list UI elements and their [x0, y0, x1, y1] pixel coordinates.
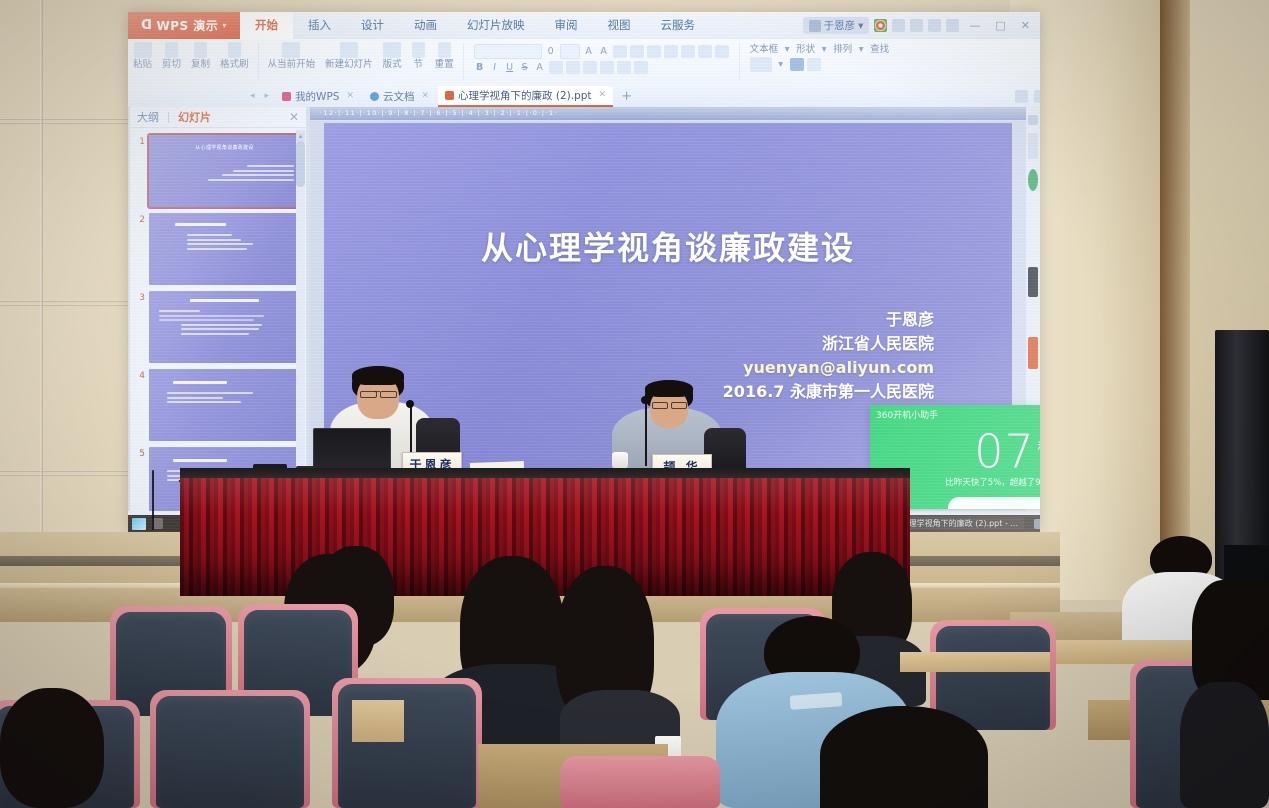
doc-tab-cloud-label: 云文档: [383, 89, 415, 104]
slide-preview-title: 从心理学视角谈廉政建设: [149, 135, 300, 151]
glasses-bridge: [375, 391, 380, 392]
slide-number: 4: [133, 369, 145, 441]
wps-ribbon: 粘贴 剪切 复制 格式刷 从当前开始 新建幻灯片: [128, 39, 1040, 88]
audience-head-front-center: [820, 706, 988, 808]
italic-icon[interactable]: I: [489, 62, 501, 73]
find-label[interactable]: 查找: [870, 44, 889, 55]
desk-c3: [352, 700, 404, 742]
textbox-caret[interactable]: ▾: [781, 44, 793, 55]
popup-count-value: 07: [974, 424, 1035, 478]
command-search-area[interactable]: 🔍 点此查找命令: [1015, 89, 1040, 104]
panel-tab-outline[interactable]: 大纲: [134, 109, 162, 125]
right-ribbon-group: 文本框 ▾ 形状 ▾ 排列 ▾ 查找 ▾: [744, 41, 896, 72]
slide-preview[interactable]: [149, 291, 300, 363]
popup-action-button[interactable]: [948, 497, 1041, 509]
help-icon[interactable]: [1015, 90, 1028, 103]
columns-icon[interactable]: [715, 45, 729, 58]
cloud-icon: [370, 92, 379, 101]
copy-icon: [194, 42, 207, 58]
shape-caret[interactable]: ▾: [818, 44, 830, 55]
shape-fill-icon[interactable]: [790, 58, 804, 71]
close-button[interactable]: ✕: [1016, 19, 1035, 32]
align-right-icon[interactable]: [647, 45, 661, 58]
underline-icon[interactable]: U: [504, 62, 516, 73]
grow-font-icon[interactable]: A: [583, 46, 595, 57]
shrink-font-icon[interactable]: A: [598, 46, 610, 57]
panel-close-icon[interactable]: ✕: [289, 110, 302, 124]
glasses-right-person-right-lens: [671, 402, 687, 409]
play-from-current-label: 从当前开始: [268, 59, 316, 70]
shape-label[interactable]: 形状: [796, 44, 815, 55]
quick-styles-caret[interactable]: ▾: [775, 59, 787, 70]
upload-icon[interactable]: [946, 19, 959, 32]
popup-count-unit: 秒: [1038, 440, 1040, 454]
bold-icon[interactable]: B: [474, 62, 486, 73]
new-slide-icon: [340, 42, 358, 58]
slide-preview[interactable]: [149, 213, 300, 285]
slide-date-venue: 2016.7 永康市第一人民医院: [723, 380, 934, 404]
slide-preview[interactable]: 从心理学视角谈廉政建设: [149, 135, 300, 207]
speaker-left-hair-top: [352, 366, 404, 385]
slide-thumbnail-list[interactable]: 1 从心理学视角谈廉政建设 2: [130, 128, 306, 515]
cloud-sync-icon[interactable]: [928, 19, 941, 32]
ribbon-button-cut[interactable]: 剪切: [157, 41, 186, 70]
ribbon-button-copy[interactable]: 复制: [186, 41, 215, 70]
font-size-select[interactable]: [560, 44, 580, 59]
ribbon-tab-review[interactable]: 审阅: [540, 12, 593, 39]
slide-affiliation: 浙江省人民医院: [723, 332, 934, 356]
seat-trim-front: [560, 756, 720, 808]
ribbon-tab-view[interactable]: 视图: [593, 12, 646, 39]
glasses-right-lens: [380, 391, 397, 398]
align-center-icon[interactable]: [630, 45, 644, 58]
window-icon[interactable]: [910, 19, 923, 32]
minimize-button[interactable]: —: [964, 19, 985, 32]
slide-email: yuenyan@aliyun.com: [723, 356, 934, 380]
arrange-label[interactable]: 排列: [833, 44, 852, 55]
cut-label: 剪切: [162, 59, 181, 70]
tab-next-icon[interactable]: ▸: [261, 91, 274, 101]
slide-author: 于恩彦: [723, 308, 934, 332]
panel-tab-slides[interactable]: 幻灯片: [175, 109, 214, 125]
slide-number: 5: [133, 447, 145, 515]
ribbon-button-section[interactable]: 节: [407, 41, 430, 70]
slide-number: 2: [133, 213, 145, 285]
quick-styles-icon[interactable]: [750, 57, 772, 72]
ribbon-tab-cloud[interactable]: 云服务: [646, 12, 711, 39]
text-effects-icon[interactable]: [549, 61, 563, 74]
line-spacing-icon[interactable]: [698, 45, 712, 58]
account-chip[interactable]: 于恩彦 ▾: [803, 17, 870, 34]
ribbon-button-paste[interactable]: 粘贴: [128, 41, 157, 70]
seat-c2: [156, 696, 304, 808]
ribbon-tab-design[interactable]: 设计: [346, 12, 399, 39]
tab-prev-icon[interactable]: ◂: [246, 91, 259, 101]
microphone-head-right: [641, 396, 649, 404]
projection-screen: ᗡ WPS 演示 ▾ 开始 插入 设计 动画 幻灯片放映 审阅 视图 云服务 于…: [128, 12, 1040, 532]
align-vertical-icon[interactable]: [617, 61, 631, 74]
font-color-icon[interactable]: A: [534, 62, 546, 73]
doc-tab-presentation[interactable]: 心理学视角下的廉政 (2).ppt ✕: [438, 86, 613, 107]
highlight-icon[interactable]: [566, 61, 580, 74]
ruler-ticks: ·12·|·11·|·10·|·9·|·8·|·7·|·6·|·5·|·4·|·…: [310, 107, 1026, 120]
ppt-icon: [445, 91, 454, 100]
ribbon-tab-start[interactable]: 开始: [240, 12, 293, 39]
account-caret: ▾: [858, 20, 863, 32]
align-left-icon[interactable]: [613, 45, 627, 58]
settings-icon[interactable]: [1034, 90, 1040, 103]
slide-panel: 大纲 幻灯片 ✕ 1 从心理学视角谈廉政建设: [130, 107, 306, 511]
desk-a4: [900, 652, 1050, 672]
new-tab-button[interactable]: +: [615, 89, 638, 104]
format-painter-icon: [228, 42, 241, 58]
panel-scroll-up-icon[interactable]: ▴: [296, 131, 305, 141]
layout-label: 版式: [383, 59, 402, 70]
copy-label: 复制: [191, 59, 210, 70]
doc-tab-cloud[interactable]: 云文档 ✕: [363, 87, 436, 106]
strikethrough-icon[interactable]: S: [519, 62, 531, 73]
audience-shirt-dark-right: [1180, 682, 1269, 808]
new-slide-label: 新建幻灯片: [325, 59, 373, 70]
panel-tab-strip: 大纲 幻灯片 ✕: [130, 107, 306, 128]
speaker-right-hair-top: [645, 380, 693, 397]
cable-vertical: [152, 470, 154, 530]
ribbon-tab-slideshow[interactable]: 幻灯片放映: [452, 12, 540, 39]
slide-thumbnail-1[interactable]: 1 从心理学视角谈廉政建设: [130, 132, 306, 210]
wps-logo-text: WPS 演示: [156, 17, 218, 34]
paste-label: 粘贴: [133, 59, 152, 70]
wps-logo-caret: ▾: [222, 21, 227, 30]
section-label: 节: [413, 59, 423, 70]
slide-number: 1: [133, 135, 145, 207]
text-direction-icon[interactable]: [600, 61, 614, 74]
ribbon-button-layout[interactable]: 版式: [378, 41, 407, 70]
title-bar-right: 于恩彦 ▾ — □ ✕: [803, 17, 1040, 34]
slide-number: 3: [133, 291, 145, 363]
ribbon-button-format-painter[interactable]: 格式刷: [215, 41, 254, 70]
doc-tab-close-icon[interactable]: ✕: [599, 90, 607, 100]
section-icon: [412, 42, 425, 58]
horizontal-ruler[interactable]: ·12·|·11·|·10·|·9·|·8·|·7·|·6·|·5·|·4·|·…: [310, 107, 1026, 120]
taskbar-item-label: 心理学视角下的廉政 (2).ppt - ...: [901, 518, 1018, 529]
dark-tool-icon[interactable]: [1028, 267, 1038, 297]
ribbon-button-new-slide[interactable]: 新建幻灯片: [320, 41, 378, 70]
doc-tab-close-icon[interactable]: ✕: [346, 91, 354, 101]
layout-icon: [383, 42, 401, 58]
user-avatar-icon: [809, 20, 821, 32]
slide-thumbnail-3[interactable]: 3: [130, 288, 306, 366]
maximize-button[interactable]: □: [990, 19, 1010, 32]
wps-icon: [282, 92, 291, 101]
microphone-head-left: [406, 400, 414, 408]
popup-app-name: 360开机小助手: [876, 408, 938, 421]
account-name: 于恩彦: [824, 18, 856, 33]
doc-tab-my-wps-label: 我的WPS: [295, 89, 339, 104]
popup-header: 360开机小助手 ☰ —: [870, 405, 1040, 423]
bullets-icon[interactable]: [664, 45, 678, 58]
slide-title-text[interactable]: 从心理学视角谈廉政建设: [324, 223, 1012, 269]
wps-logo-mark: ᗡ: [141, 18, 152, 33]
textbox-label[interactable]: 文本框: [750, 44, 779, 55]
paste-icon: [134, 42, 152, 58]
network-icon[interactable]: [1034, 519, 1040, 529]
doc-tab-my-wps[interactable]: 我的WPS ✕: [275, 87, 361, 106]
clear-format-icon[interactable]: [583, 61, 597, 74]
arrange-caret[interactable]: ▾: [855, 44, 867, 55]
smartart-icon[interactable]: [634, 61, 648, 74]
wall-dark-edge: [1160, 0, 1190, 600]
ribbon-button-play-from-current[interactable]: 从当前开始: [263, 41, 321, 70]
globe-icon[interactable]: [892, 19, 905, 32]
document-tab-strip: ◂ ▸ 我的WPS ✕ 云文档 ✕ 心理学视角下的廉政 (2).ppt ✕ +: [128, 85, 1040, 107]
font-size-value[interactable]: 0: [545, 46, 557, 57]
lecture-hall-scene: ᗡ WPS 演示 ▾ 开始 插入 设计 动画 幻灯片放映 审阅 视图 云服务 于…: [0, 0, 1269, 808]
glasses-left-lens: [360, 391, 377, 398]
doc-tab-close-icon[interactable]: ✕: [422, 91, 430, 101]
doc-tab-presentation-label: 心理学视角下的廉政 (2).ppt: [458, 88, 592, 103]
ribbon-tab-animation[interactable]: 动画: [399, 12, 452, 39]
scroll-up-icon[interactable]: [1028, 115, 1038, 125]
font-controls-group: 0 A A B I U S A: [468, 41, 735, 74]
orange-tool-icon[interactable]: [1028, 337, 1038, 369]
format-painter-label: 格式刷: [220, 59, 249, 70]
numbering-icon[interactable]: [681, 45, 695, 58]
reset-icon: [438, 42, 451, 58]
slide-subtitle-block[interactable]: 于恩彦 浙江省人民医院 yuenyan@aliyun.com 2016.7 永康…: [723, 308, 934, 404]
slide-thumbnail-2[interactable]: 2: [130, 210, 306, 288]
play-from-current-icon: [282, 42, 300, 58]
ribbon-button-reset[interactable]: 重置: [430, 41, 459, 70]
slide-thumbnail-4[interactable]: 4: [130, 366, 306, 444]
glasses-right-person-left-lens: [652, 402, 668, 409]
microphone-stand-right: [645, 400, 647, 466]
windows-start-icon[interactable]: [132, 518, 146, 530]
reset-label: 重置: [435, 59, 454, 70]
canvas-scrollbar-thumb[interactable]: [1028, 133, 1038, 159]
ribbon-tab-strip: 开始 插入 设计 动画 幻灯片放映 审阅 视图 云服务: [240, 12, 710, 39]
shape-outline-icon[interactable]: [807, 58, 821, 71]
smart-assistant-icon[interactable]: [1028, 169, 1038, 191]
font-family-select[interactable]: [474, 44, 542, 59]
slide-preview[interactable]: [149, 369, 300, 441]
audience-hair-front-left: [0, 688, 104, 808]
panel-scrollbar-thumb[interactable]: [296, 141, 305, 187]
wps-title-bar: ᗡ WPS 演示 ▾ 开始 插入 设计 动画 幻灯片放映 审阅 视图 云服务 于…: [128, 12, 1040, 39]
wps-logo[interactable]: ᗡ WPS 演示 ▾: [128, 12, 240, 39]
ribbon-tab-insert[interactable]: 插入: [293, 12, 346, 39]
chrome-icon[interactable]: [874, 19, 887, 32]
cut-icon: [165, 42, 178, 58]
